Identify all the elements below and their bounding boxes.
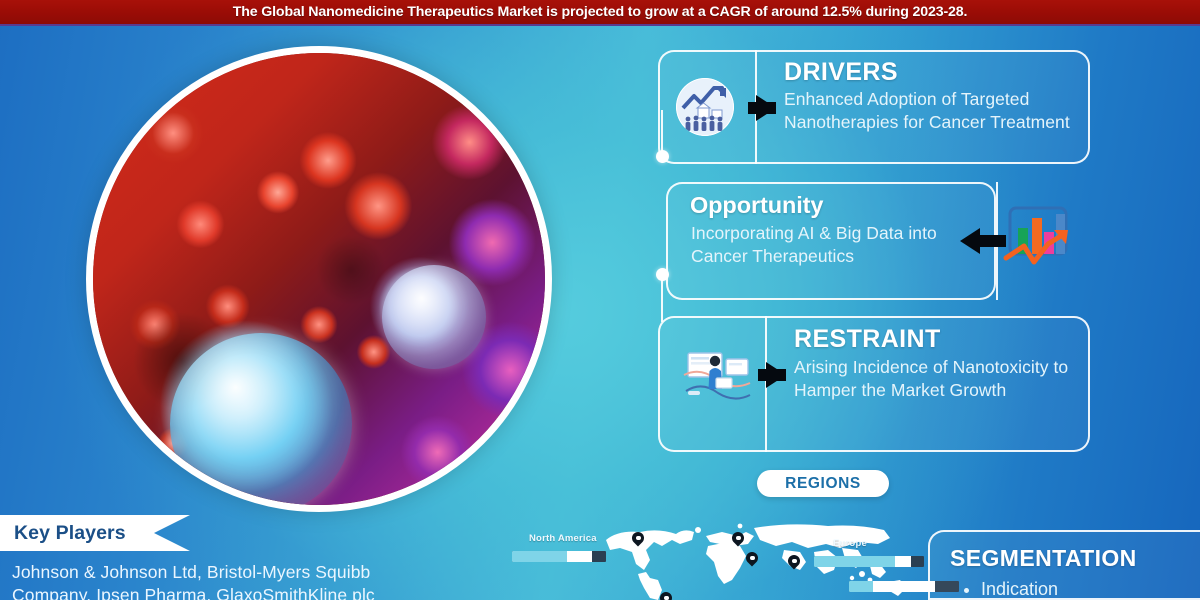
drivers-description: Enhanced Adoption of Targeted Nanotherap… (784, 88, 1084, 134)
nanoparticle-sphere-small (382, 265, 486, 369)
key-players-list: Johnson & Johnson Ltd, Bristol-Myers Squ… (12, 561, 442, 600)
region-bar-europe (814, 556, 924, 567)
region-bar-north-america (512, 551, 606, 562)
restraint-title: RESTRAINT (794, 325, 941, 354)
region-label-europe: Europe (833, 538, 867, 549)
arrow-right-icon-restraint (766, 362, 786, 388)
arrow-left-icon-opportunity (960, 228, 980, 254)
restraint-connector-dot (656, 268, 669, 281)
restraint-connector-stem (661, 276, 663, 322)
map-pin-north-america[interactable] (632, 532, 644, 548)
person-dashboard-icon (682, 345, 752, 403)
regions-badge-label: REGIONS (785, 475, 861, 493)
bar-chart-trend-icon (996, 200, 1080, 276)
drivers-connector-dot (656, 150, 669, 163)
drivers-title: DRIVERS (784, 58, 898, 87)
key-players-label: Key Players (14, 522, 126, 545)
segmentation-list: Indication (963, 578, 1058, 600)
headline-text: The Global Nanomedicine Therapeutics Mar… (233, 4, 968, 20)
infographic-canvas: The Global Nanomedicine Therapeutics Mar… (0, 0, 1200, 600)
hero-image-circle (86, 46, 552, 512)
growth-chart-people-icon (676, 78, 734, 136)
segmentation-title: SEGMENTATION (950, 545, 1137, 572)
opportunity-title: Opportunity (690, 192, 823, 219)
list-item: Indication (981, 578, 1058, 600)
key-players-ribbon: Key Players (0, 515, 190, 551)
arrow-right-icon-drivers (756, 95, 776, 121)
regions-badge: REGIONS (757, 470, 889, 497)
opportunity-description: Incorporating AI & Big Data into Cancer … (691, 222, 991, 268)
restraint-description: Arising Incidence of Nanotoxicity to Ham… (794, 356, 1094, 402)
map-pin-south-america[interactable] (660, 592, 672, 600)
map-pin-middle-east[interactable] (746, 552, 758, 568)
map-pin-europe[interactable] (732, 532, 744, 548)
region-label-north-america: North America (529, 533, 597, 544)
map-pin-asia-pacific[interactable] (788, 555, 800, 571)
nanoparticle-sphere-large (170, 333, 352, 512)
headline-banner: The Global Nanomedicine Therapeutics Mar… (0, 0, 1200, 26)
